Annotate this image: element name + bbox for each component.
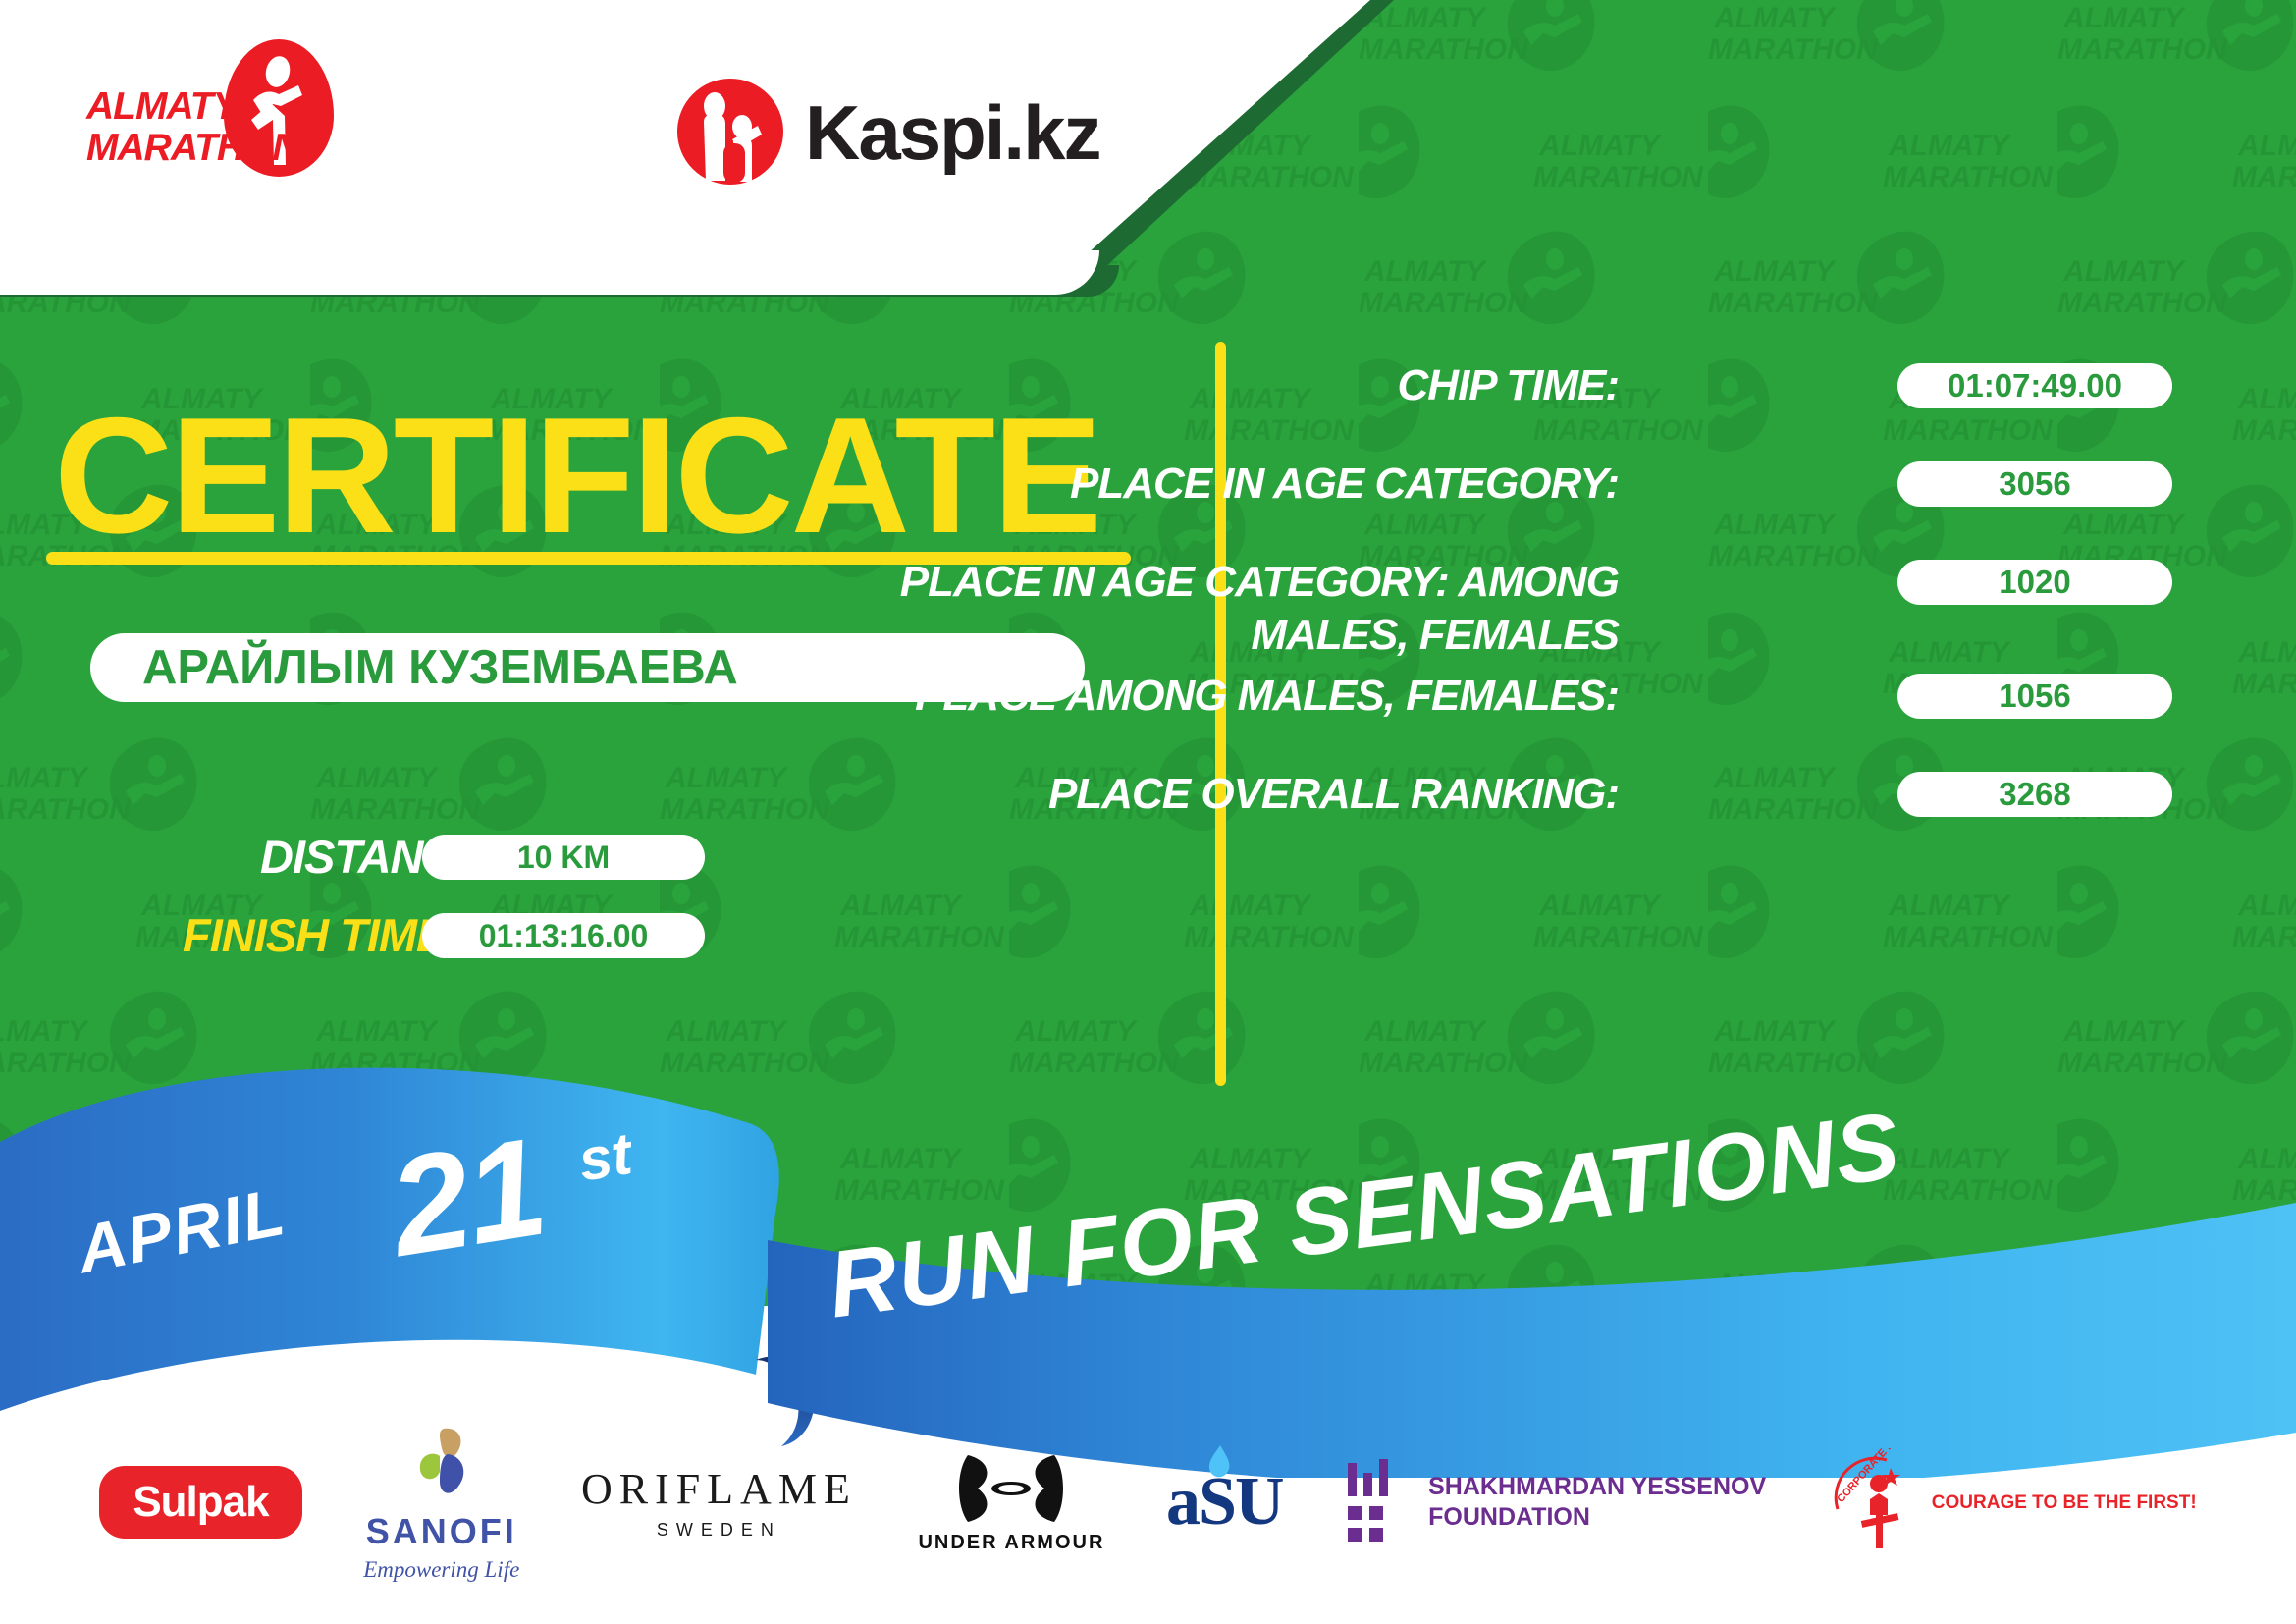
stat-label: PLACE AMONG MALES, FEMALES: — [814, 670, 1619, 723]
finish-time-row: FINISH TIME: 01:13:16.00 — [183, 908, 1145, 963]
almaty-marathon-line1: ALMATY — [86, 86, 283, 128]
yessenov-bars-icon — [1344, 1459, 1413, 1545]
stat-value: 01:07:49.00 — [1948, 367, 2122, 405]
ribbon-day: 21 — [380, 1107, 555, 1289]
asu-droplet-icon — [1207, 1445, 1233, 1479]
sponsor-yessenov-label: SHAKHMARDAN YESSENOV — [1428, 1472, 1766, 1502]
sponsor-strip: Sulpak SANOFI Empowering Life ORIFLAME S… — [0, 1404, 2296, 1600]
almaty-marathon-wordmark: ALMATY MARATHON — [86, 86, 283, 169]
sponsor-asu: aSU — [1166, 1463, 1282, 1542]
stat-value: 3268 — [1999, 776, 2070, 813]
almaty-marathon-logo: ALMATY MARATHON — [86, 39, 332, 177]
stat-value-pill: 3268 — [1897, 772, 2172, 817]
stat-value: 1020 — [1999, 564, 2070, 601]
stat-value-pill: 1020 — [1897, 560, 2172, 605]
participant-name-value: АРАЙЛЫМ КУЗЕМБАЕВА — [142, 640, 738, 695]
stat-label: CHIP TIME: — [814, 359, 1619, 412]
sanofi-icon — [399, 1423, 485, 1511]
finish-time-label: FINISH TIME: — [183, 908, 460, 963]
kaspi-logo: Kaspi.kz — [677, 67, 1090, 185]
courage-fund-icon: CORPORATE FUND — [1828, 1448, 1922, 1556]
sponsor-courage-label: COURAGE TO BE THE FIRST! — [1932, 1491, 2197, 1514]
certificate-root: ALMATY MARATHON Kaspi.kz CERTIFICATE — [0, 0, 2296, 1624]
stat-label: PLACE IN AGE CATEGORY: — [814, 458, 1619, 511]
stat-label: PLACE IN AGE CATEGORY: AMONG MALES, FEMA… — [814, 556, 1619, 662]
svg-text:CORPORATE FUND: CORPORATE FUND — [1835, 1448, 1911, 1505]
stat-value-pill: 01:07:49.00 — [1897, 363, 2172, 408]
under-armour-icon — [952, 1451, 1070, 1526]
distance-row: DISTANCE: 10 KM — [260, 830, 1144, 885]
sponsor-courage-fund: CORPORATE FUND COURAGE TO BE THE FIRST! — [1828, 1448, 2197, 1556]
sponsor-under-armour: UNDER ARMOUR — [918, 1451, 1104, 1554]
finish-time-value: 01:13:16.00 — [479, 918, 649, 954]
kaspi-people-circle-icon — [677, 79, 783, 185]
ribbon-ordinal: st — [574, 1119, 636, 1194]
sponsor-oriflame-tagline: SWEDEN — [657, 1520, 781, 1541]
stat-value-pill: 1056 — [1897, 674, 2172, 719]
sponsor-sanofi-label: SANOFI — [366, 1511, 517, 1552]
kaspi-wordmark: Kaspi.kz — [805, 88, 1099, 178]
sponsor-under-armour-label: UNDER ARMOUR — [918, 1532, 1104, 1554]
header-logos: ALMATY MARATHON Kaspi.kz — [0, 0, 1080, 280]
sponsor-oriflame: ORIFLAME SWEDEN — [581, 1464, 857, 1541]
stat-value: 3056 — [1999, 465, 2070, 503]
sponsor-oriflame-label: ORIFLAME — [581, 1464, 857, 1514]
sponsor-sanofi-tagline: Empowering Life — [363, 1557, 519, 1583]
sponsor-sulpak-label: Sulpak — [99, 1466, 301, 1539]
stat-value-pill: 3056 — [1897, 461, 2172, 507]
sponsor-sulpak: Sulpak — [99, 1466, 301, 1539]
stat-label: PLACE OVERALL RANKING: — [814, 768, 1619, 821]
almaty-marathon-line2: MARATHON — [86, 128, 283, 169]
sponsor-courage-text: COURAGE TO BE THE FIRST! — [1932, 1492, 2197, 1513]
sponsor-sanofi: SANOFI Empowering Life — [363, 1423, 519, 1583]
sponsor-yessenov: SHAKHMARDAN YESSENOV FOUNDATION — [1344, 1459, 1766, 1545]
sponsor-yessenov-tagline: FOUNDATION — [1428, 1502, 1766, 1533]
finish-time-value-pill: 01:13:16.00 — [422, 913, 705, 958]
stat-value: 1056 — [1999, 677, 2070, 715]
distance-value-pill: 10 KM — [422, 835, 705, 880]
distance-value: 10 KM — [517, 839, 610, 876]
